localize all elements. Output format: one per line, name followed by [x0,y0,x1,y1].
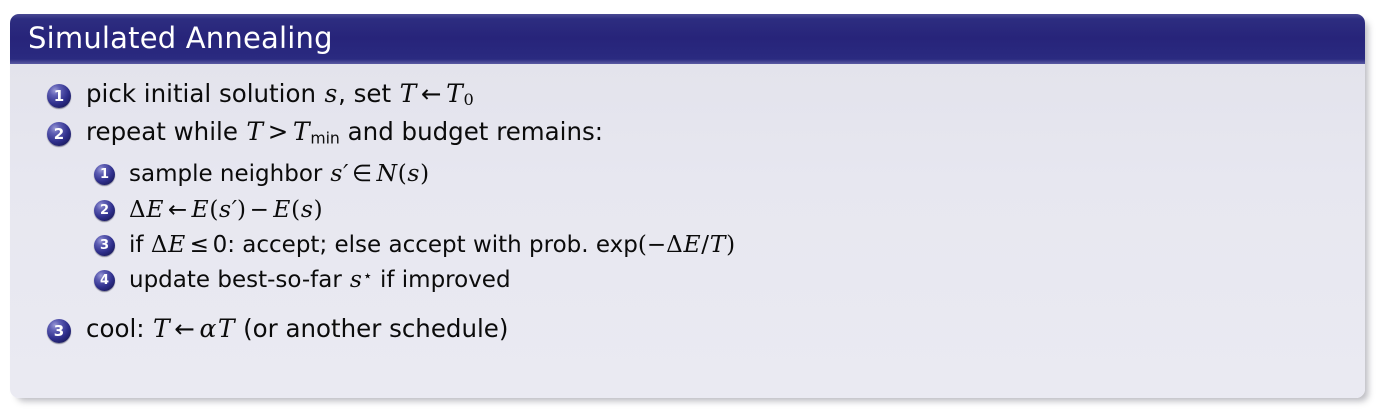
substep-1-text: sample neighbor s′∈N(s) [129,161,429,187]
step-1-text: pick initial solution s, set T←T0 [86,79,474,108]
list-item: 3 cool: T←αT (or another schedule) [28,313,1347,345]
enumerate-marker-2-1: 1 [94,164,115,185]
greater-than-icon: > [264,117,292,146]
list-item: 3 if ΔE≤0: accept; else accept with prob… [86,229,1347,260]
enumerate-marker-2: 2 [47,122,71,146]
block-title: Simulated Annealing [10,14,1365,64]
step-2-text: repeat while T>Tmin and budget remains: [86,117,603,146]
block-body: 1 pick initial solution s, set T←T0 2 re… [10,64,1365,398]
slide-canvas: Simulated Annealing 1 pick initial solut… [0,0,1380,414]
enumerate-marker-1: 1 [47,84,71,108]
minus-icon: − [246,197,273,223]
list-item: 1 sample neighbor s′∈N(s) [86,158,1347,189]
substep-3-text: if ΔE≤0: accept; else accept with prob. … [129,232,735,258]
left-arrow-icon: ← [417,79,445,108]
algorithm-steps: 1 pick initial solution s, set T←T0 2 re… [28,78,1347,345]
left-arrow-icon: ← [164,197,191,223]
step-3-text: cool: T←αT (or another schedule) [86,314,508,343]
element-of-icon: ∈ [348,161,375,187]
enumerate-marker-2-2: 2 [94,200,115,221]
beamer-block: Simulated Annealing 1 pick initial solut… [10,14,1365,398]
less-than-or-equal-icon: ≤ [186,232,213,258]
list-item: 1 pick initial solution s, set T←T0 [28,78,1347,110]
enumerate-marker-2-4: 4 [94,270,115,291]
enumerate-marker-3: 3 [47,319,71,343]
left-arrow-icon: ← [170,314,198,343]
algorithm-substeps: 1 sample neighbor s′∈N(s) 2 ΔE←E(s′)−E(s… [86,158,1347,295]
list-item: 2 ΔE←E(s′)−E(s) [86,194,1347,225]
enumerate-marker-2-3: 3 [94,235,115,256]
substep-2-text: ΔE←E(s′)−E(s) [129,197,323,223]
list-item: 2 repeat while T>Tmin and budget remains… [28,116,1347,295]
list-item: 4 update best-so-far s⋆ if improved [86,264,1347,295]
substep-4-text: update best-so-far s⋆ if improved [129,267,511,293]
star-icon: ⋆ [363,266,373,285]
